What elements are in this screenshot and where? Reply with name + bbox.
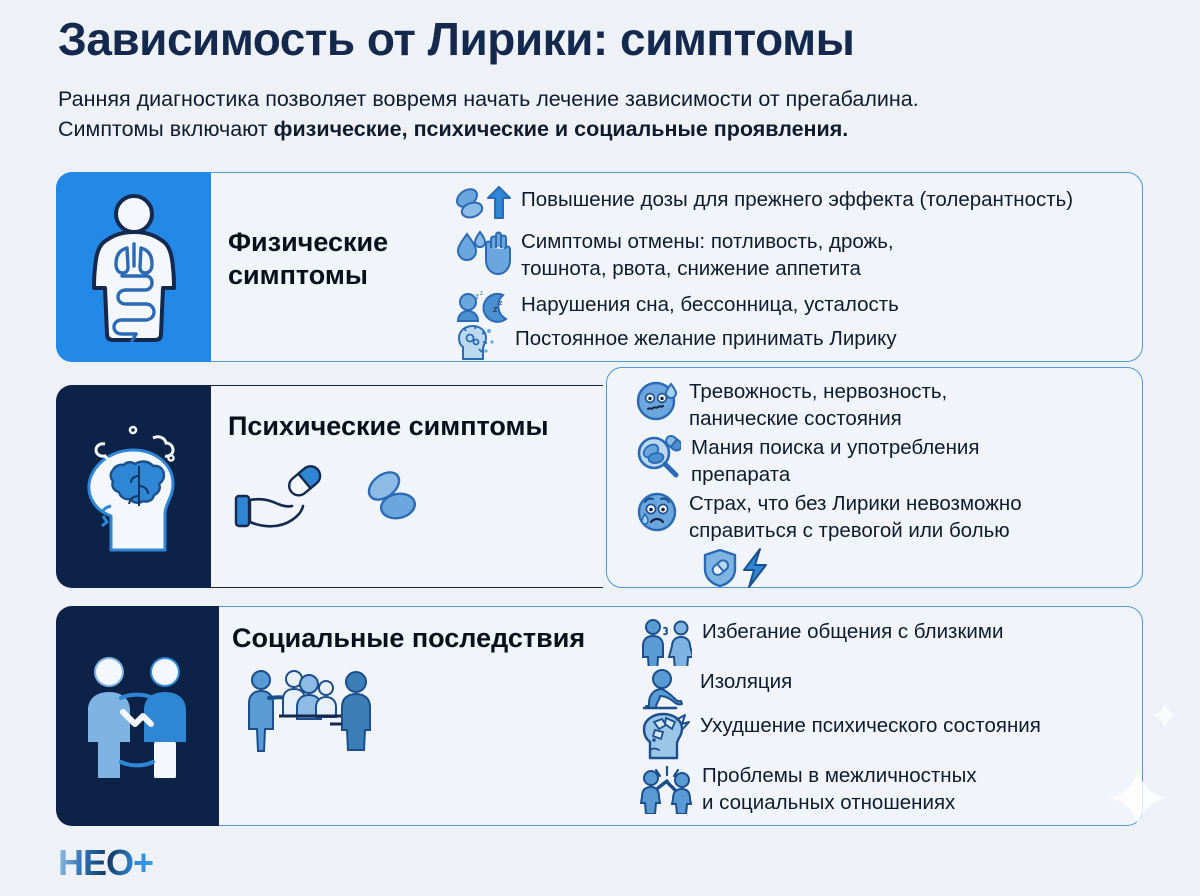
- magnifier-pills-search-icon: [635, 434, 681, 480]
- mental-item-0: Тревожность, нервозность, панические сос…: [635, 378, 1135, 432]
- subtitle-line-2-bold: физические, психические и социальные про…: [274, 117, 849, 141]
- social-item-0-text: Избегание общения с близкими: [702, 618, 1003, 645]
- mental-item-1-text: Мания поиска и употребления препарата: [691, 434, 979, 488]
- sleepy-face-moon-icon: z z z z: [455, 291, 511, 325]
- card-social-icon-panel: [56, 606, 220, 826]
- anxious-sweating-face-icon: [635, 378, 679, 422]
- neo-plus-logo: НЕО+: [58, 842, 153, 884]
- physical-item-0: Повышение дозы для прежнего эффекта (тол…: [455, 186, 1145, 220]
- card-social-heading: Социальные последствия: [232, 622, 632, 655]
- physical-item-3: Постоянное желание принимать Лирику: [455, 325, 1145, 361]
- hand-with-capsule-icon: [232, 460, 352, 540]
- card-mental-icon-panel: [56, 385, 212, 588]
- subtitle-line-1: Ранняя диагностика позволяет вовремя нач…: [58, 87, 919, 111]
- social-item-1: Изоляция: [640, 668, 1140, 714]
- lightning-bolt-icon: [744, 549, 766, 587]
- physical-item-1-text: Симптомы отмены: потливость, дрожь, тошн…: [521, 228, 894, 282]
- mental-item-2: Страх, что без Лирики невозможно справит…: [635, 490, 1135, 544]
- head-broken-mind-icon: [640, 712, 690, 760]
- two-people-handshake-icon: [75, 650, 201, 782]
- card-social-extra-icon: [243, 662, 379, 763]
- infographic-page: Зависимость от Лирики: симптомы Ранняя д…: [0, 0, 1200, 896]
- page-subtitle: Ранняя диагностика позволяет вовремя нач…: [58, 84, 1148, 144]
- svg-text:z: z: [480, 291, 483, 297]
- card-physical-heading: Физические симптомы: [228, 226, 458, 292]
- physical-item-1: Симптомы отмены: потливость, дрожь, тошн…: [455, 228, 1145, 282]
- sparkle-decoration-small: [1150, 700, 1180, 730]
- physical-item-2: z z z z Нарушения сна, бессонница, устал…: [455, 291, 1145, 325]
- mental-item-2-text: Страх, что без Лирики невозможно справит…: [689, 490, 1022, 544]
- head-brain-thoughts-icon: [75, 420, 193, 554]
- physical-item-0-text: Повышение дозы для прежнего эффекта (тол…: [521, 186, 1073, 213]
- social-item-0: Избегание общения с близкими: [640, 618, 1140, 666]
- social-item-1-text: Изоляция: [700, 668, 792, 695]
- social-item-3: Проблемы в межличностных и социальных от…: [640, 762, 1140, 816]
- mental-item-1: Мания поиска и употребления препарата: [635, 434, 1135, 488]
- shield-capsule-icon: [705, 550, 735, 586]
- card-physical-icon-panel: [56, 172, 212, 362]
- physical-item-3-text: Постоянное желание принимать Лирику: [515, 325, 897, 352]
- head-craving-icon: [455, 325, 505, 361]
- pills-up-arrow-icon: [455, 186, 511, 220]
- social-item-3-text: Проблемы в межличностных и социальных от…: [702, 762, 977, 816]
- page-title: Зависимость от Лирики: симптомы: [58, 12, 854, 66]
- svg-text:z: z: [475, 292, 479, 301]
- card-mental-extra-icons: [232, 460, 352, 545]
- pills-cluster-icon: [354, 462, 444, 532]
- worried-crying-face-icon: [635, 490, 679, 534]
- subtitle-line-2-normal: Симптомы включают: [58, 117, 274, 141]
- social-item-2: Ухудшение психического состояния: [640, 712, 1140, 760]
- human-body-organs-icon: [82, 192, 186, 342]
- person-sitting-alone-icon: [640, 668, 690, 714]
- card-mental-footer-icons: [702, 548, 792, 593]
- mental-item-0-text: Тревожность, нервозность, панические сос…: [689, 378, 947, 432]
- group-excluding-person-icon: [243, 662, 379, 758]
- card-mental-heading: Психические симптомы: [228, 410, 598, 443]
- svg-text:z: z: [493, 304, 498, 314]
- two-people-conflict-icon: [640, 762, 692, 814]
- svg-text:z: z: [499, 300, 503, 307]
- sweat-drops-trembling-hand-icon: [455, 228, 511, 278]
- physical-item-2-text: Нарушения сна, бессонница, усталость: [521, 291, 899, 318]
- man-woman-avoiding-icon: [640, 618, 692, 666]
- social-item-2-text: Ухудшение психического состояния: [700, 712, 1041, 739]
